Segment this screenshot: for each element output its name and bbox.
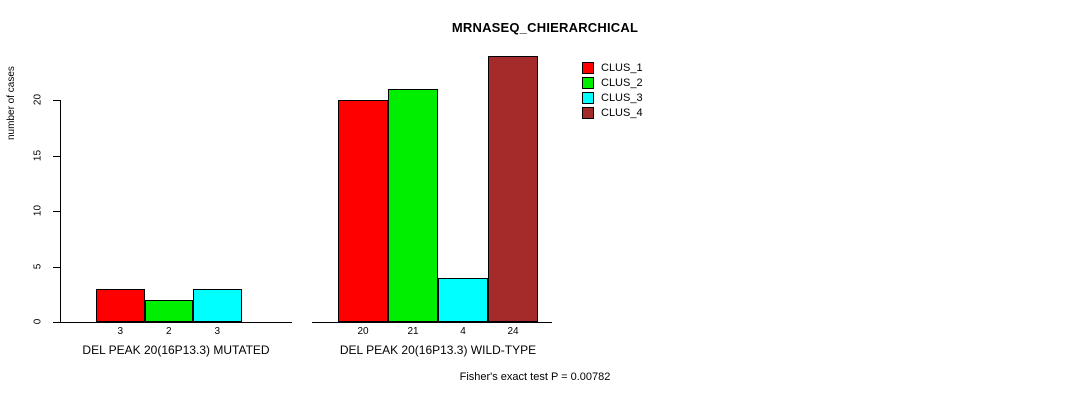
legend-item[interactable]: CLUS_2	[582, 75, 643, 90]
bar-group: 2021424DEL PEAK 20(16P13.3) WILD-TYPE	[0, 0, 1090, 400]
bar[interactable]	[438, 278, 488, 322]
x-axis-baseline	[312, 322, 552, 323]
footer-annotation: Fisher's exact test P = 0.00782	[0, 371, 1090, 383]
bar[interactable]	[338, 100, 388, 322]
bar-value-label: 4	[438, 326, 488, 337]
legend-color-swatch-icon	[582, 77, 594, 89]
bar-value-label: 24	[488, 326, 538, 337]
legend: CLUS_1CLUS_2CLUS_3CLUS_4	[582, 60, 643, 120]
legend-item-label: CLUS_4	[601, 107, 643, 119]
legend-item-label: CLUS_2	[601, 77, 643, 89]
legend-item[interactable]: CLUS_3	[582, 90, 643, 105]
fisher-test-text: Fisher's exact test P = 0.00782	[460, 371, 611, 383]
bar-value-label: 21	[388, 326, 438, 337]
group-axis-label: DEL PEAK 20(16P13.3) WILD-TYPE	[238, 343, 638, 357]
legend-item[interactable]: CLUS_4	[582, 105, 643, 120]
legend-color-swatch-icon	[582, 62, 594, 74]
legend-item-label: CLUS_1	[601, 62, 643, 74]
bar-value-label: 20	[338, 326, 388, 337]
legend-color-swatch-icon	[582, 107, 594, 119]
legend-item[interactable]: CLUS_1	[582, 60, 643, 75]
bar[interactable]	[488, 56, 538, 322]
legend-item-label: CLUS_3	[601, 92, 643, 104]
bar[interactable]	[388, 89, 438, 322]
chart-canvas: MRNASEQ_CHIERARCHICAL number of cases 05…	[0, 0, 1090, 400]
legend-color-swatch-icon	[582, 92, 594, 104]
